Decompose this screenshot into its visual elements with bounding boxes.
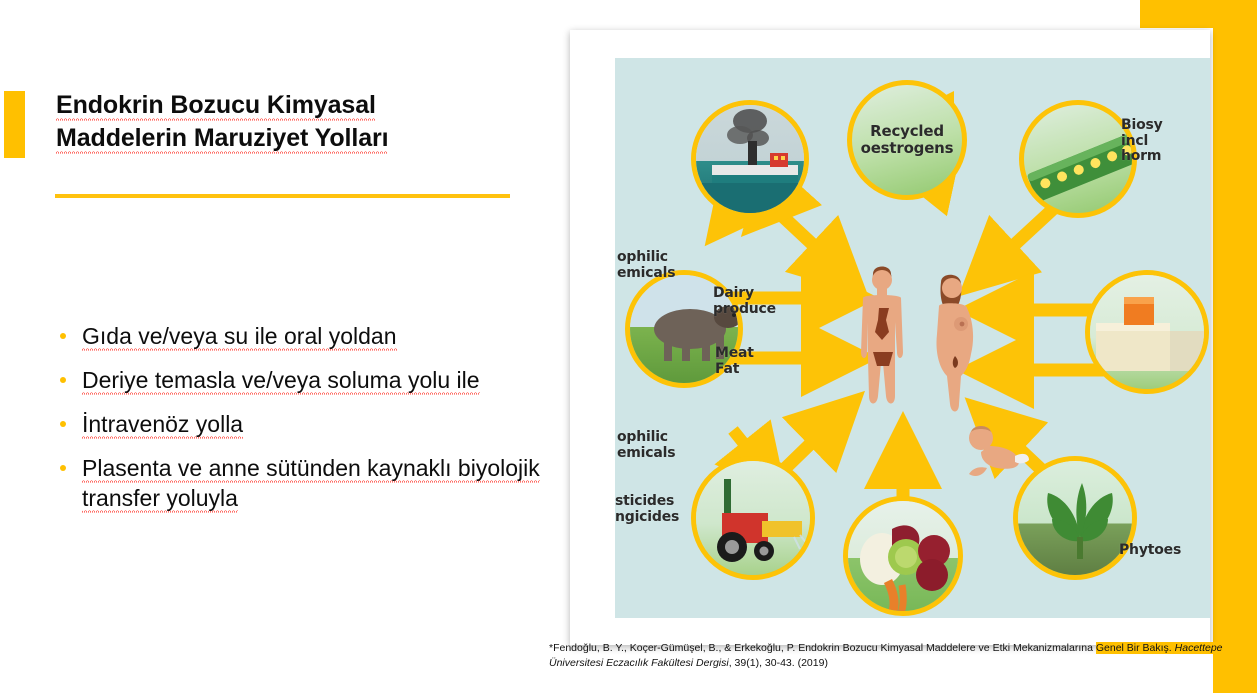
slide-canvas: Endokrin Bozucu Kimyasal Maddelerin Maru… [0, 0, 1257, 693]
food-packaging-illustration [1090, 275, 1209, 394]
pesticides-fungicides-label: sticides ngicides [615, 494, 679, 525]
bullet-dot-icon [60, 333, 66, 339]
adult-male-figure [861, 267, 903, 404]
central-human-figures [839, 256, 1039, 486]
list-item-label: İntravenöz yolla [82, 411, 243, 439]
bullet-dot-icon [60, 377, 66, 383]
factory-smokestack-bubble [691, 100, 809, 218]
dairy-produce-label: Dairy produce [713, 286, 776, 317]
right-edge-accent-band [1213, 0, 1257, 693]
phytoestrogens-label: Phytoes [1119, 543, 1181, 559]
biosynthetic-hormones-label: Biosy incl horm [1121, 118, 1163, 165]
endocrine-exposure-diagram: Recycled oestrogens [615, 58, 1210, 618]
diagram-card: Recycled oestrogens [570, 30, 1210, 645]
citation-highlight-plain: Genel Bir Bakış. [1096, 642, 1175, 654]
lipophilic-chemicals-label-top: ophilic emicals [617, 250, 675, 281]
bullet-dot-icon [60, 465, 66, 471]
list-item-label: Gıda ve/veya su ile oral yoldan [82, 323, 397, 351]
infant-figure [969, 426, 1029, 476]
tractor-pesticide-bubble [691, 456, 815, 580]
citation: *Fendoğlu, B. Y., Koçer-Gümüşel, B., & E… [549, 641, 1249, 671]
list-item: Plasenta ve anne sütünden kaynaklı biyol… [52, 454, 542, 514]
citation-authors-text: *Fendoğlu, B. Y., Koçer-Gümüşel, B., & E… [549, 642, 1096, 654]
page-title-line-1: Endokrin Bozucu Kimyasal [56, 89, 526, 122]
factory-illustration [696, 105, 809, 218]
recycled-oestrogens-label: Recycled oestrogens [861, 123, 954, 157]
recycled-oestrogens-bubble: Recycled oestrogens [847, 80, 967, 200]
title-divider-rule [55, 194, 510, 198]
vegetables-bubble [843, 496, 963, 616]
lipophilic-chemicals-label-bottom: ophilic emicals [617, 430, 675, 461]
page-title-line-1-text: Endokrin Bozucu Kimyasal [56, 91, 376, 121]
list-item-label: Deriye temasla ve/veya soluma yolu ile [82, 367, 480, 395]
page-title: Endokrin Bozucu Kimyasal Maddelerin Maru… [56, 89, 526, 156]
list-item-label: Plasenta ve anne sütünden kaynaklı biyol… [82, 455, 540, 513]
list-item: İntravenöz yolla [52, 410, 542, 440]
page-title-line-2-text: Maddelerin Maruziyet Yolları [56, 124, 388, 154]
packaging-bubble [1085, 270, 1209, 394]
exposure-routes-list: Gıda ve/veya su ile oral yoldan Deriye t… [52, 322, 542, 527]
list-item: Gıda ve/veya su ile oral yoldan [52, 322, 542, 352]
fresh-produce-illustration [848, 501, 963, 616]
citation-highlight-journal: Hacettepe [1175, 642, 1223, 654]
pharmaceutical-bubble [1019, 100, 1137, 218]
citation-journal-continued: Üniversitesi Eczacılık Fakültesi Dergisi [549, 657, 729, 669]
list-item: Deriye temasla ve/veya soluma yolu ile [52, 366, 542, 396]
pregnant-female-figure [936, 275, 973, 412]
citation-volume-pages: , 39(1), 30-43. (2019) [729, 657, 828, 669]
bullet-dot-icon [60, 421, 66, 427]
meat-fat-label: Meat Fat [715, 346, 754, 377]
title-accent-bar [4, 91, 25, 158]
tractor-illustration [696, 461, 815, 580]
page-title-line-2: Maddelerin Maruziyet Yolları [56, 122, 526, 155]
